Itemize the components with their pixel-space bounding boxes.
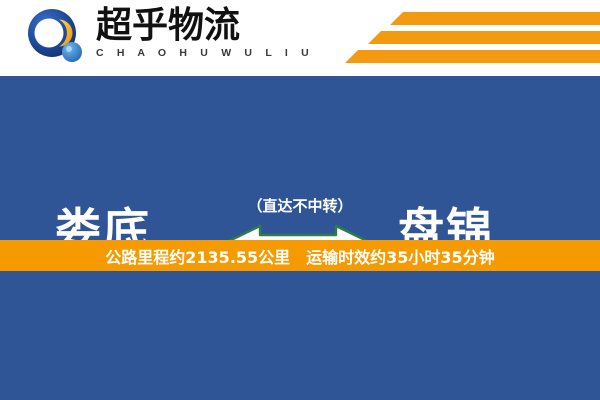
route-note-direct: （直达不中转） <box>0 195 600 216</box>
brand-block: 超乎物流 C H A O H U W U L I U <box>96 6 276 70</box>
brand-name-cn: 超乎物流 <box>96 6 276 46</box>
decorative-stripe-1 <box>390 12 600 25</box>
coverage-panel: 双台子区、兴隆台区、大洼区、盘山县 <box>0 271 600 400</box>
logistics-route-banner: 超乎物流 C H A O H U W U L I U 娄底 盘锦 （直达不中转）… <box>0 0 600 400</box>
route-panel: 娄底 盘锦 （直达不中转） 【往返运输】 <box>0 76 600 240</box>
header-bar: 超乎物流 C H A O H U W U L I U <box>0 0 600 76</box>
brand-name-en: C H A O H U W U L I U <box>96 47 276 59</box>
route-info-bar: 公路里程约2135.55公里 运输时效约35小时35分钟 <box>0 240 600 271</box>
decorative-stripe-2 <box>368 31 600 44</box>
distance-and-duration-text: 公路里程约2135.55公里 运输时效约35小时35分钟 <box>105 244 494 268</box>
decorative-stripe-3 <box>345 50 600 63</box>
circle-crescent-logo-icon <box>26 8 88 68</box>
